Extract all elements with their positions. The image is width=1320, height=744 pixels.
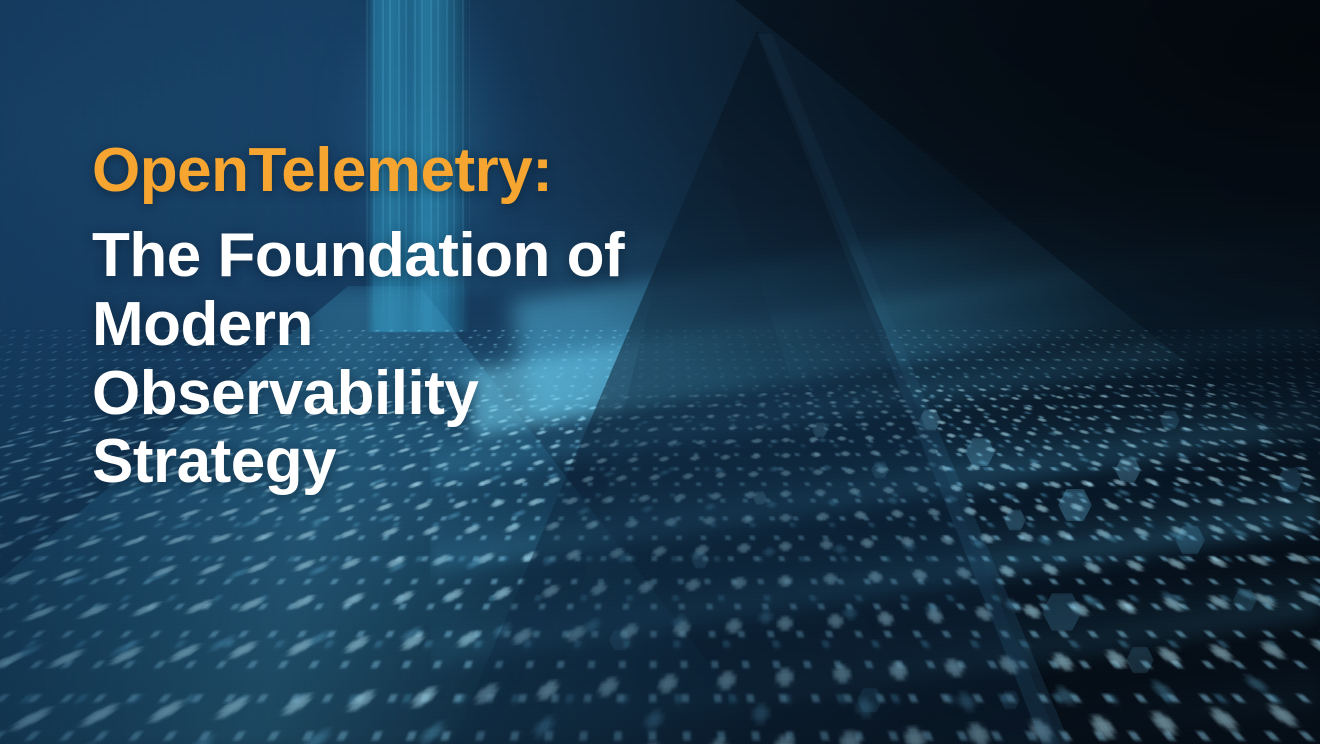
headline-line-3: Observability bbox=[92, 360, 712, 429]
page-title: The Foundation of Modern Observability S… bbox=[92, 222, 712, 497]
title-slide: OpenTelemetry: The Foundation of Modern … bbox=[0, 0, 1320, 744]
eyebrow-title: OpenTelemetry: bbox=[92, 140, 712, 202]
title-copy-block: OpenTelemetry: The Foundation of Modern … bbox=[92, 140, 712, 497]
headline-line-2: Modern bbox=[92, 291, 712, 360]
headline-line-1: The Foundation of bbox=[92, 222, 712, 291]
headline-line-4: Strategy bbox=[92, 428, 712, 497]
